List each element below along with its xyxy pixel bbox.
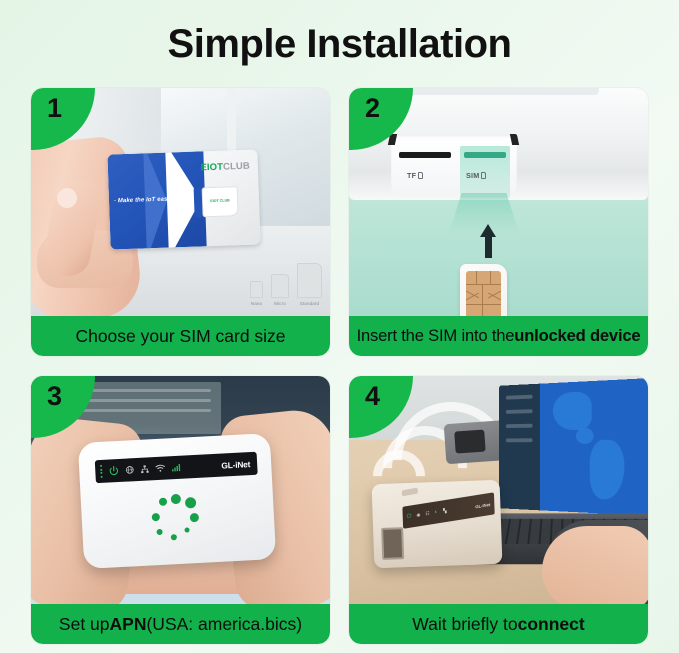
caption-2-prefix: Insert the SIM into the (357, 326, 515, 346)
caption-4-bold: connect (518, 614, 585, 635)
micro-label: Micro (271, 301, 289, 306)
signal-bars-icon (171, 463, 180, 472)
sim-size-micro: Micro (271, 274, 289, 306)
sidebar-line (506, 409, 533, 414)
lan-icon: ☷ (425, 511, 429, 518)
typing-hand (542, 526, 648, 604)
step-card-4[interactable]: ⏻ ◉ ☷ ◐ ▚ GL-iNet 4 Wait briefly to conn… (349, 376, 648, 644)
step-number-3: 3 (47, 383, 62, 410)
sim-card-carrier: · Make the IoT easier · EIOTCLUB EIOT CL… (107, 149, 260, 249)
continent-shape (590, 440, 625, 500)
nano-label: Nano (250, 301, 263, 306)
card-brand-logo: EIOTCLUB (200, 161, 250, 174)
tf-label-text: TF (407, 171, 416, 180)
router-usb-port (402, 488, 418, 497)
standard-label: Standard (297, 301, 322, 306)
step-number-1: 1 (47, 95, 62, 122)
tf-slot-label: TF (407, 171, 423, 180)
mobile-router: GL-iNet (78, 433, 276, 569)
step-card-2[interactable]: TF SIM (349, 88, 648, 356)
sidebar-line (506, 395, 533, 400)
wifi-icon (155, 464, 165, 474)
spinner-dot (171, 534, 177, 540)
contact-line (466, 284, 501, 285)
brand-eiot: EIOT (200, 162, 223, 174)
step-number-2: 2 (365, 95, 380, 122)
wifi-icon: ◐ (434, 509, 438, 516)
internet-led (125, 465, 134, 474)
power-icon: ⏻ (407, 513, 412, 521)
contact-line (490, 271, 491, 284)
sim-card-icon (481, 172, 486, 179)
sim-punch-out: EIOT CLUB (202, 186, 239, 217)
spinner-dot (152, 513, 160, 521)
spinner-dot (159, 498, 167, 506)
caption-3-prefix: Set up (59, 614, 110, 635)
spinner-dot (184, 527, 189, 532)
router-top-lip (397, 88, 599, 95)
spinner-dot (156, 529, 162, 535)
step-card-3[interactable]: GL-iNet 3 Set up APN (USA: america. (31, 376, 330, 644)
power-led (108, 465, 120, 477)
sim-chip-contacts (466, 271, 501, 316)
sim-chip (460, 264, 507, 316)
router-brand-logo: GL-iNet (221, 459, 252, 471)
battery-dot (100, 465, 102, 467)
arrow-stem (485, 234, 492, 258)
battery-dot (100, 472, 102, 474)
step-caption-4: Wait briefly to connect (349, 604, 648, 644)
step-number-4: 4 (365, 383, 380, 410)
spinner-dot (171, 494, 182, 505)
lan-icon (140, 464, 149, 473)
spinner-dot (185, 497, 197, 509)
globe-icon: ◉ (416, 512, 420, 519)
micro-sim-shape (271, 274, 289, 298)
continent-shape (553, 391, 592, 430)
sim-card-slot (464, 152, 506, 158)
doc-line (81, 399, 211, 402)
dongle-screen (454, 430, 485, 454)
sim-label-text: SIM (466, 171, 479, 180)
nano-sim-shape (250, 281, 263, 298)
router-brand-logo: GL-iNet (475, 501, 490, 508)
standard-sim-shape (297, 263, 322, 298)
steps-grid: · Make the IoT easier · EIOTCLUB EIOT CL… (31, 88, 648, 644)
sidebar-line (506, 424, 533, 428)
loading-spinner-icon (145, 493, 204, 552)
contact-line (466, 304, 501, 305)
tf-card-icon (418, 172, 423, 179)
step-caption-1: Choose your SIM card size (31, 316, 330, 356)
power-icon (108, 465, 120, 477)
router-ethernet-port (381, 527, 404, 560)
contact-line (482, 284, 483, 304)
signal-led (171, 463, 180, 472)
brand-club: CLUB (223, 161, 250, 173)
contact-line (482, 304, 483, 316)
globe-icon (125, 465, 134, 474)
sidebar-line (506, 438, 533, 442)
tf-card-slot (399, 152, 451, 158)
continent-shape (576, 428, 594, 444)
router-led-strip: ⏻ ◉ ☷ ◐ ▚ GL-iNet (402, 492, 494, 528)
battery-indicator-dots (100, 465, 103, 478)
wifi-led (155, 464, 165, 474)
caption-3-bold: APN (110, 614, 147, 635)
caption-2-bold: unlocked device (514, 326, 640, 346)
sim-size-standard: Standard (297, 263, 322, 306)
world-map-pane (540, 378, 648, 516)
step-caption-3: Set up APN (USA: america.bics) (31, 604, 330, 644)
app-sidebar-pane (499, 384, 540, 511)
led-status-strip: GL-iNet (95, 452, 258, 483)
battery-dot (101, 476, 103, 478)
insert-arrow-icon (480, 224, 496, 258)
page-title: Simple Installation (0, 0, 679, 66)
sim-size-chart: Nano Micro Standard (250, 263, 322, 306)
caption-4-prefix: Wait briefly to (412, 614, 517, 635)
sim-chip-logo: EIOT CLUB (210, 199, 230, 204)
doc-line (81, 389, 211, 392)
doc-line (81, 409, 211, 412)
spinner-dot (190, 513, 199, 522)
signal-bars-icon: ▚ (443, 508, 447, 515)
caption-1-text: Choose your SIM card size (75, 326, 285, 347)
contact-line (476, 271, 477, 284)
sim-size-nano: Nano (250, 281, 263, 306)
step-caption-2: Insert the SIM into the unlocked device (349, 316, 648, 356)
sim-slot-label: SIM (466, 171, 486, 180)
caption-3-suffix: (USA: america.bics) (146, 614, 302, 635)
mobile-router-angled: ⏻ ◉ ☷ ◐ ▚ GL-iNet (372, 480, 503, 568)
step-card-1[interactable]: · Make the IoT easier · EIOTCLUB EIOT CL… (31, 88, 330, 356)
laptop-screen (499, 378, 648, 516)
battery-dot (100, 469, 102, 471)
lan-led (140, 464, 149, 473)
